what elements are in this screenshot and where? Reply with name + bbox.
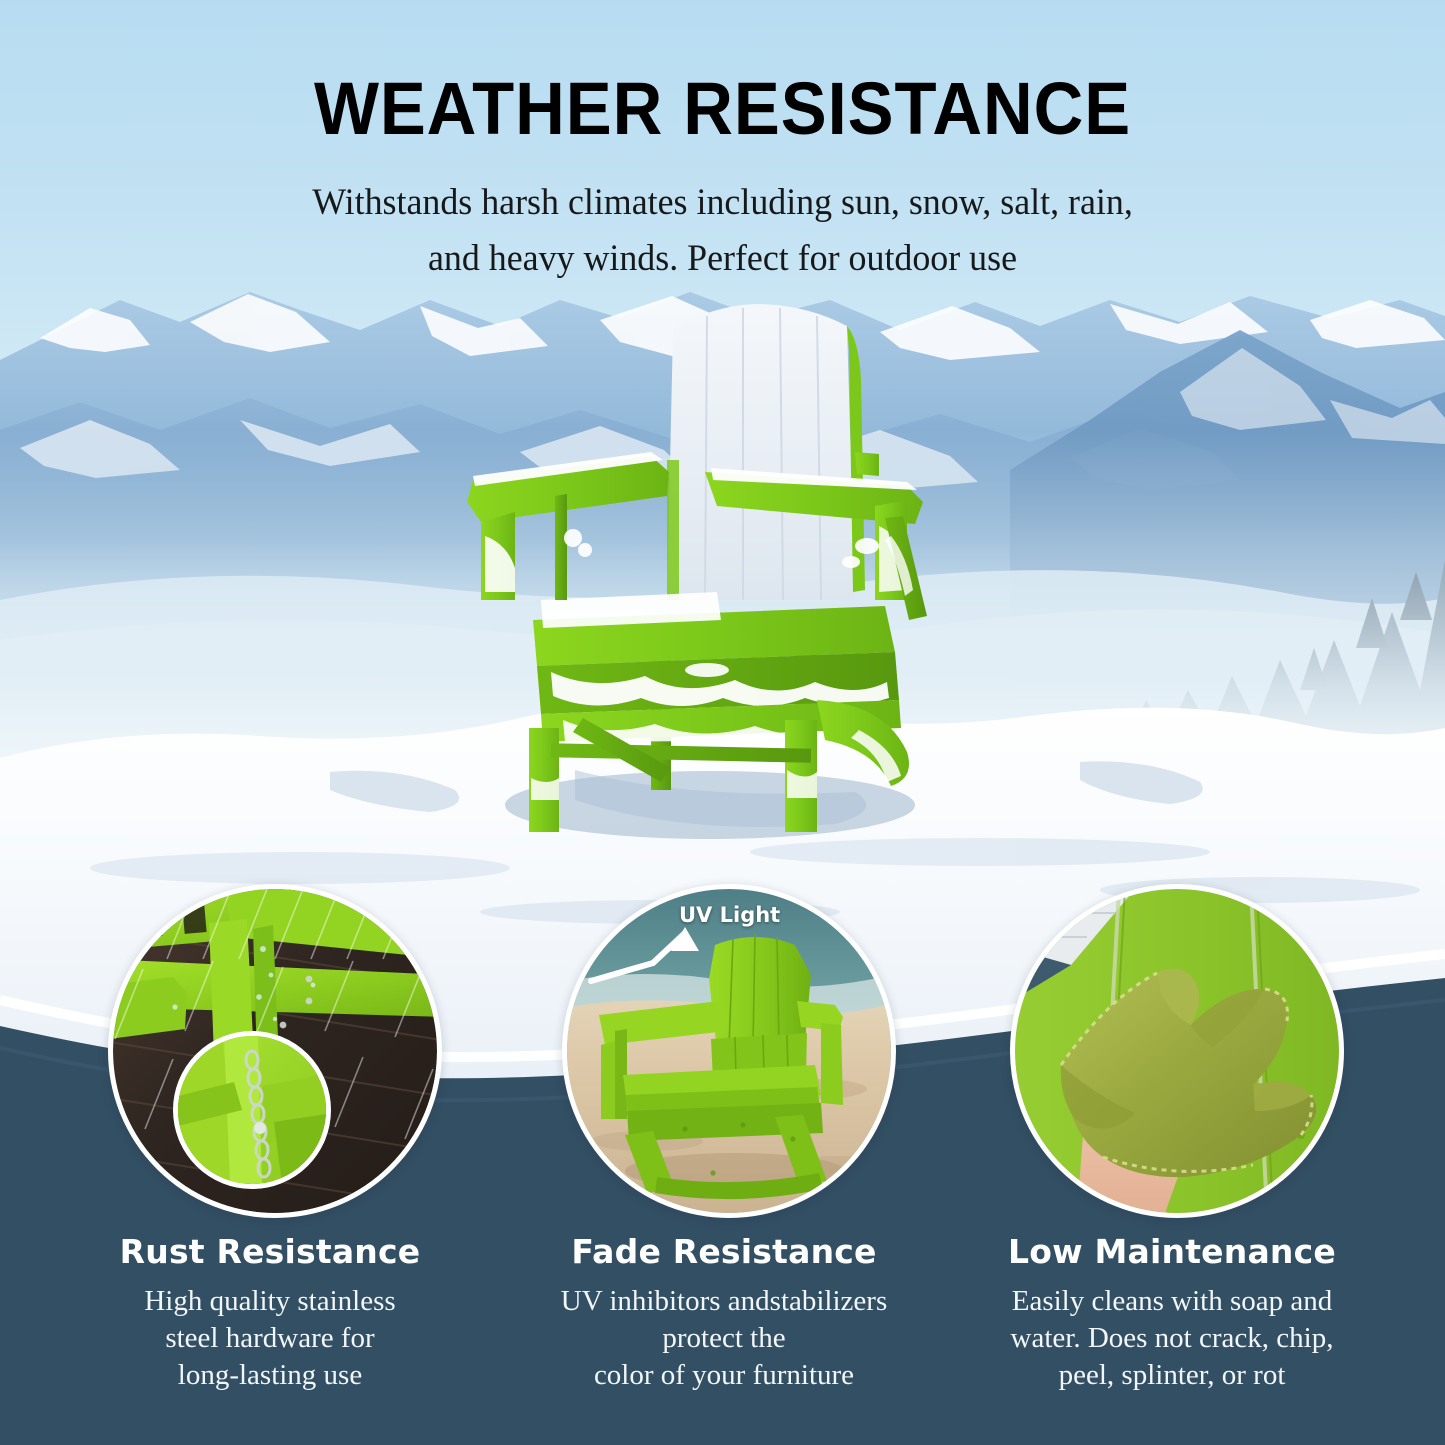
feature-caption-low-maintenance: Low Maintenance Easily cleans with soap … <box>960 1232 1384 1394</box>
feature-caption-rust-resistance: Rust Resistance High quality stainless s… <box>58 1232 482 1394</box>
feature-image-fade-resistance[interactable]: UV Light <box>562 884 896 1218</box>
feature-image-rust-resistance[interactable] <box>108 884 442 1218</box>
feature-title-low-maintenance: Low Maintenance <box>960 1232 1384 1271</box>
feature-body-line-2: steel hardware for <box>165 1322 374 1354</box>
feature-body-line-3: long-lasting use <box>178 1359 362 1391</box>
feature-body-line-2: protect the <box>662 1322 785 1354</box>
infographic-canvas: WEATHER RESISTANCE Withstands harsh clim… <box>0 0 1445 1445</box>
feature-body-line-2: water. Does not crack, chip, <box>1011 1322 1334 1354</box>
feature-title-rust-resistance: Rust Resistance <box>58 1232 482 1271</box>
page-title: WEATHER RESISTANCE <box>51 72 1395 146</box>
feature-body-line-3: color of your furniture <box>594 1359 854 1391</box>
feature-title-fade-resistance: Fade Resistance <box>512 1232 936 1271</box>
subtitle-line-1: Withstands harsh climates including sun,… <box>22 175 1424 231</box>
hero-chair-image <box>455 300 955 860</box>
uv-light-label: UV Light <box>679 903 780 927</box>
uv-light-arrow-icon <box>567 889 891 1213</box>
feature-caption-fade-resistance: Fade Resistance UV inhibitors andstabili… <box>512 1232 936 1394</box>
page-subtitle: Withstands harsh climates including sun,… <box>0 175 1445 287</box>
feature-image-low-maintenance[interactable] <box>1010 884 1344 1218</box>
feature-body-line-1: UV inhibitors andstabilizers <box>561 1285 887 1317</box>
feature-body-line-3: peel, splinter, or rot <box>1059 1359 1286 1391</box>
feature-body-line-1: Easily cleans with soap and <box>1012 1285 1333 1317</box>
hardware-closeup-inset <box>173 1031 331 1189</box>
subtitle-line-2: and heavy winds. Perfect for outdoor use <box>22 231 1424 287</box>
feature-body-line-1: High quality stainless <box>144 1285 395 1317</box>
